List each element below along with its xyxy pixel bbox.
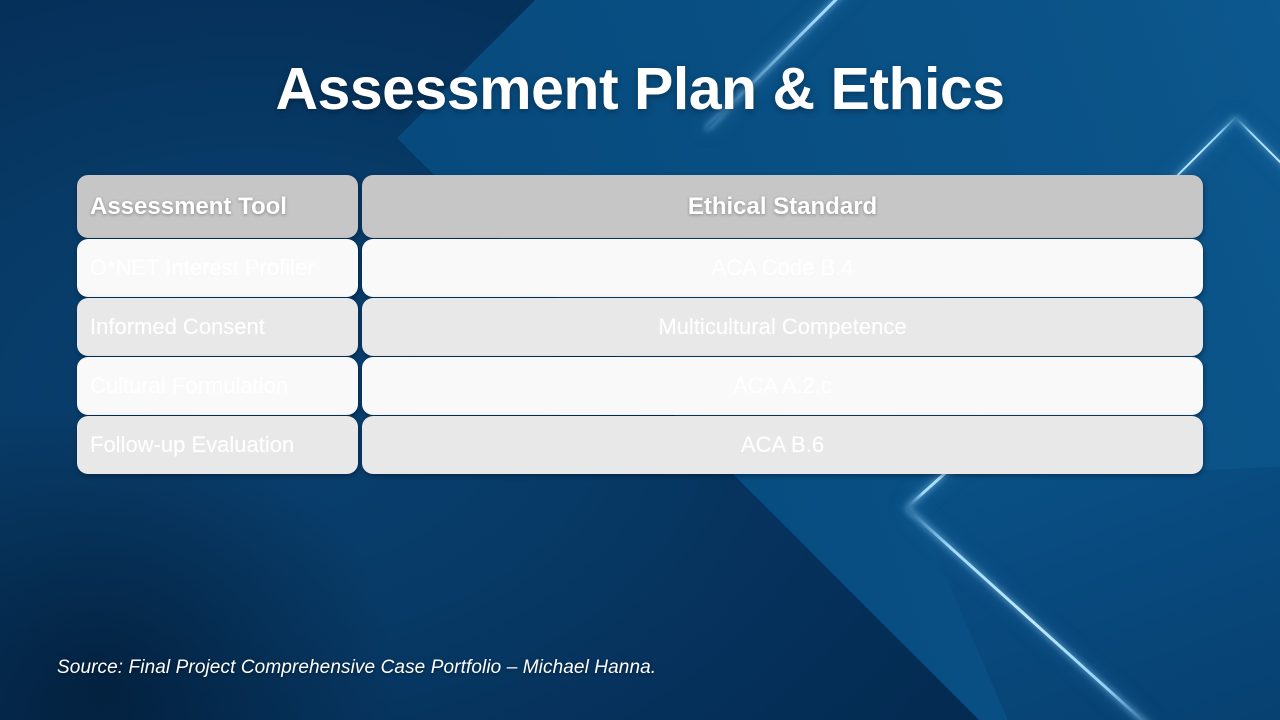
header-cell-assessment-tool: Assessment Tool — [77, 175, 358, 238]
header-cell-ethical-standard: Ethical Standard — [362, 175, 1203, 238]
cell-text-assessment-tool: Cultural Formulation — [90, 373, 288, 399]
cell-text-ethical-standard: ACA B.6 — [741, 432, 824, 458]
header-label-assessment-tool: Assessment Tool — [90, 193, 287, 221]
cell-ethical-standard: Multicultural Competence — [362, 298, 1203, 356]
header-label-ethical-standard: Ethical Standard — [688, 193, 877, 221]
cell-assessment-tool: O*NET Interest Profiler — [77, 239, 358, 297]
cell-assessment-tool: Informed Consent — [77, 298, 358, 356]
cell-ethical-standard: ACA A.2.c — [362, 357, 1203, 415]
cell-text-assessment-tool: Follow-up Evaluation — [90, 432, 294, 458]
accent-chevron-right-right-arm — [1235, 117, 1280, 204]
cell-ethical-standard: ACA B.6 — [362, 416, 1203, 474]
table-row: O*NET Interest Profiler ACA Code B.4 — [77, 239, 1203, 297]
cell-assessment-tool: Cultural Formulation — [77, 357, 358, 415]
slide-title: Assessment Plan & Ethics — [0, 57, 1280, 122]
cell-text-assessment-tool: O*NET Interest Profiler — [90, 255, 315, 281]
accent-chevron-bottom-lower-arm — [905, 506, 1152, 720]
cell-assessment-tool: Follow-up Evaluation — [77, 416, 358, 474]
table-header-row: Assessment Tool Ethical Standard — [77, 175, 1203, 238]
decorative-chevron-bottom-right — [905, 455, 1280, 720]
slide-canvas: Assessment Plan & Ethics Assessment Tool… — [0, 0, 1280, 720]
assessment-ethics-table: Assessment Tool Ethical Standard O*NET I… — [77, 175, 1203, 475]
cell-text-ethical-standard: ACA A.2.c — [733, 373, 832, 399]
table-row: Cultural Formulation ACA A.2.c — [77, 357, 1203, 415]
source-note: Source: Final Project Comprehensive Case… — [57, 657, 656, 679]
table-row: Follow-up Evaluation ACA B.6 — [77, 416, 1203, 474]
cell-ethical-standard: ACA Code B.4 — [362, 239, 1203, 297]
cell-text-ethical-standard: ACA Code B.4 — [712, 255, 854, 281]
table-row: Informed Consent Multicultural Competenc… — [77, 298, 1203, 356]
cell-text-assessment-tool: Informed Consent — [90, 314, 265, 340]
cell-text-ethical-standard: Multicultural Competence — [658, 314, 906, 340]
